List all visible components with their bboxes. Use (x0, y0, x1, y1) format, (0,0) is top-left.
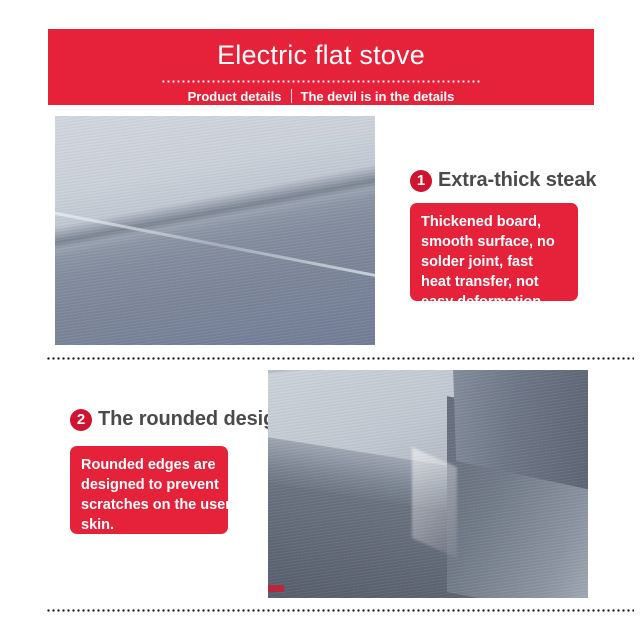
callout-line: designed to prevent (81, 475, 217, 495)
section-2-callout-box: Rounded edges are designed to prevent sc… (70, 446, 228, 534)
section-1-heading-text: Extra-thick steak (438, 169, 596, 192)
header-banner: Electric flat stove Product details The … (48, 29, 594, 105)
product-photo-steel-plate (55, 116, 375, 345)
badge-number-2: 2 (70, 409, 92, 431)
section-1-callout-box: Thickened board, smooth surface, no sold… (410, 203, 578, 301)
product-detail-page: Electric flat stove Product details The … (0, 0, 640, 640)
section-2-heading-text: The rounded design (98, 408, 287, 431)
header-subtitle-divider (291, 89, 292, 103)
callout-line: easy deformation (421, 292, 567, 301)
callout-line: Thickened board, (421, 212, 567, 232)
badge-number-1: 1 (410, 170, 432, 192)
section-1-heading: 1 Extra-thick steak (410, 169, 596, 192)
header-subtitle: Product details The devil is in the deta… (48, 89, 594, 103)
callout-line: skin. (81, 515, 217, 534)
callout-line: Rounded edges are (81, 455, 217, 475)
page-title: Electric flat stove (48, 29, 594, 69)
griddle-corner-highlight (412, 447, 457, 558)
callout-line: smooth surface, no (421, 232, 567, 252)
header-dotted-rule (161, 80, 481, 83)
section-2-heading: 2 The rounded design (70, 408, 287, 431)
callout-line: solder joint, fast (421, 252, 567, 272)
header-subtitle-right: The devil is in the details (301, 90, 455, 103)
section-separator-2 (46, 609, 634, 612)
callout-line: scratches on the user (81, 495, 217, 515)
callout-line: heat transfer, not (421, 272, 567, 292)
product-photo-rounded-corner (268, 370, 588, 598)
brushed-texture-overlay (55, 116, 375, 345)
red-accent-chip (268, 585, 284, 592)
plate-edge-seam (55, 208, 375, 281)
section-separator-1 (46, 357, 634, 360)
header-subtitle-left: Product details (188, 90, 282, 103)
